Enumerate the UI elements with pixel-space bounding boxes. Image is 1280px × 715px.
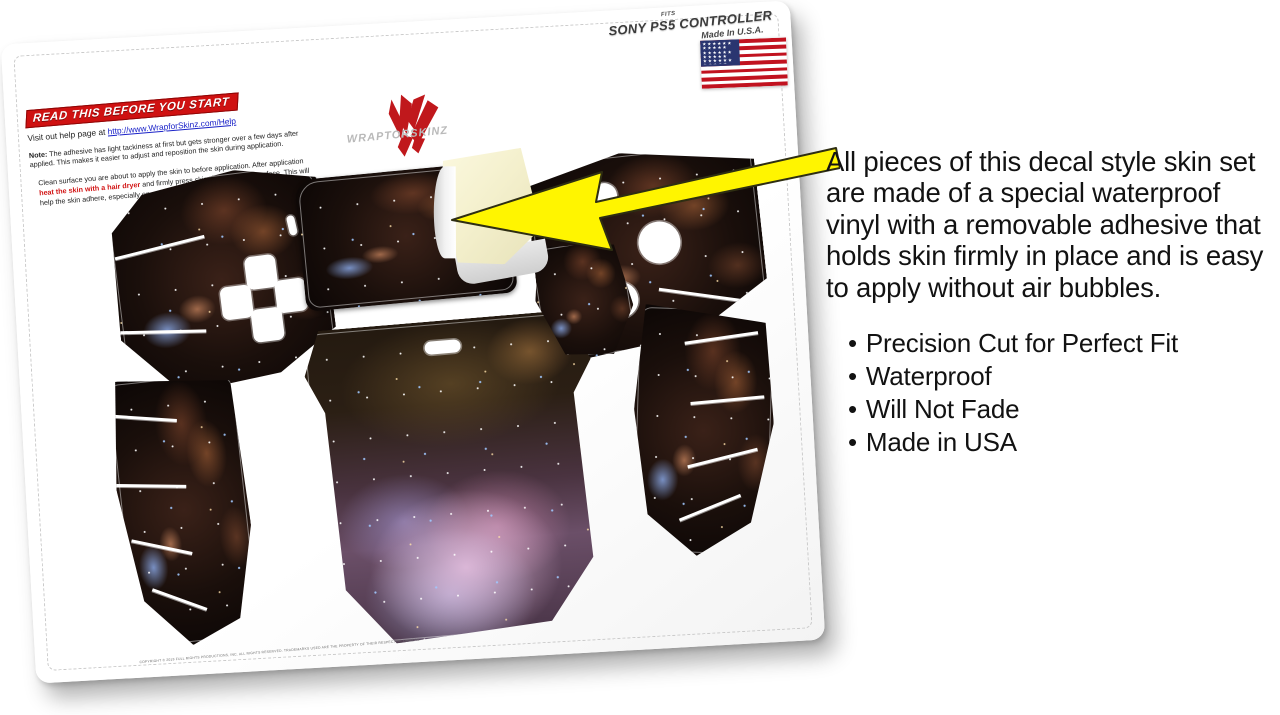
feature-item: •Made in USA [848, 426, 1266, 459]
share-button-cutout [286, 215, 298, 236]
feature-label: Made in USA [866, 427, 1017, 457]
bullet-glyph: • [848, 394, 857, 424]
feature-label: Waterproof [866, 361, 992, 391]
touchpad-slot-cutout [424, 339, 461, 355]
dpad-down-cutout [250, 306, 285, 343]
piece-slit [131, 539, 192, 555]
piece-slit [685, 331, 759, 345]
piece-slit [115, 235, 205, 260]
help-page-prefix: Visit out help page at [27, 126, 108, 143]
dpad-left-cutout [219, 284, 254, 321]
feature-item: •Will Not Fade [848, 393, 1266, 426]
dpad-up-cutout [244, 254, 279, 291]
flag-stars: ★★★★★★★★★★★★★★★★★★★★★★★★★★★★★★★★★ [702, 41, 738, 64]
feature-bullet-list: •Precision Cut for Perfect Fit •Waterpro… [848, 327, 1266, 458]
callout-paragraph: All pieces of this decal style skin set … [826, 146, 1266, 303]
piece-slit [687, 448, 758, 469]
piece-slit [120, 329, 206, 334]
bullet-glyph: • [848, 427, 857, 457]
dpad-cutouts [216, 250, 312, 346]
bullet-glyph: • [848, 361, 857, 391]
yellow-pointer-arrow [450, 146, 840, 256]
piece-slit [690, 395, 764, 405]
bullet-glyph: • [848, 328, 857, 358]
product-image-canvas: READ THIS BEFORE YOU START Visit out hel… [0, 0, 1280, 715]
note-label: Note: [29, 149, 48, 160]
feature-label: Will Not Fade [866, 394, 1019, 424]
piece-slit [116, 484, 186, 488]
piece-slit [111, 415, 177, 422]
us-flag-icon: ★★★★★★★★★★★★★★★★★★★★★★★★★★★★★★★★★ [700, 37, 788, 88]
skin-sheet: READ THIS BEFORE YOU START Visit out hel… [1, 0, 825, 683]
feature-item: •Precision Cut for Perfect Fit [848, 327, 1266, 360]
arrow-icon [450, 146, 840, 256]
piece-slit [152, 588, 208, 610]
feature-item: •Waterproof [848, 360, 1266, 393]
marketing-copy-panel: All pieces of this decal style skin set … [826, 146, 1266, 458]
piece-slit [679, 494, 741, 522]
flag-canton: ★★★★★★★★★★★★★★★★★★★★★★★★★★★★★★★★★ [700, 39, 740, 66]
feature-label: Precision Cut for Perfect Fit [866, 328, 1178, 358]
